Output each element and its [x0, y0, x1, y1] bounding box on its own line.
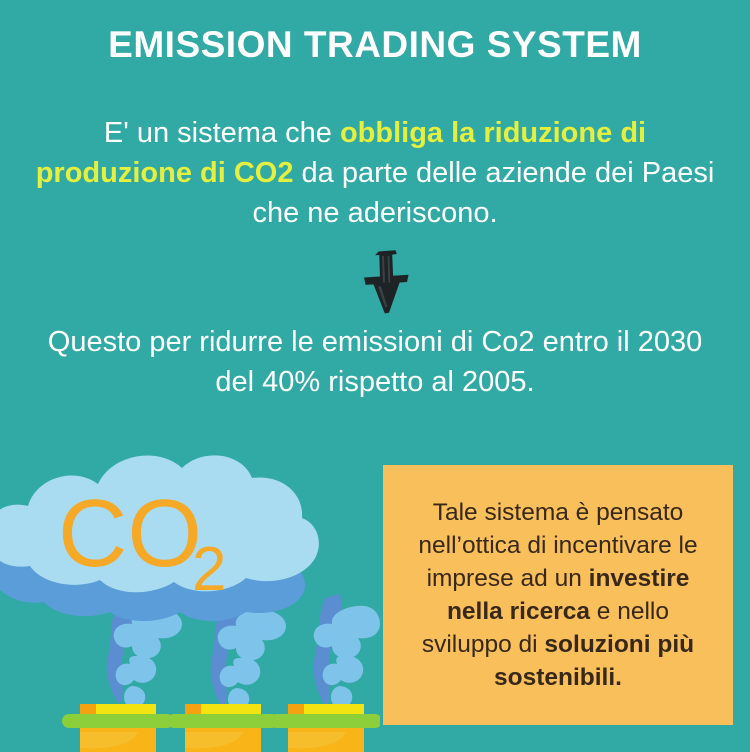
callout-text: Tale sistema è pensato nell’ottica di in… — [383, 496, 733, 694]
chimney-3 — [270, 704, 380, 752]
intro-highlight-1: obbliga la riduzione — [340, 117, 612, 149]
intro-text-part-1: E' un sistema che — [104, 117, 340, 149]
target-line-1: Questo per ridurre le emissioni di Co2 e… — [48, 326, 702, 358]
page-title: EMISSION TRADING SYSTEM — [0, 24, 750, 67]
intro-text-part-3: da parte delle aziende dei Paesi che ne … — [252, 157, 714, 229]
cloud-co2-subscript: 2 — [192, 535, 226, 604]
cloud-co2-label: CO 2 — [58, 480, 226, 604]
target-line-2: del 40% rispetto al 2005. — [215, 366, 534, 398]
down-arrow-icon — [351, 249, 421, 315]
cloud-co2-text: CO — [58, 480, 202, 587]
co2-cloud-illustration: CO 2 — [0, 448, 380, 752]
callout-box: Tale sistema è pensato nell’ottica di in… — [383, 465, 733, 725]
infographic-canvas: EMISSION TRADING SYSTEM E' un sistema ch… — [0, 0, 750, 752]
chimney-2 — [167, 704, 279, 752]
intro-paragraph: E' un sistema che obbliga la riduzione d… — [22, 113, 728, 233]
target-paragraph: Questo per ridurre le emissioni di Co2 e… — [14, 322, 736, 402]
chimney-1 — [62, 704, 174, 752]
chimney-group — [62, 704, 380, 752]
